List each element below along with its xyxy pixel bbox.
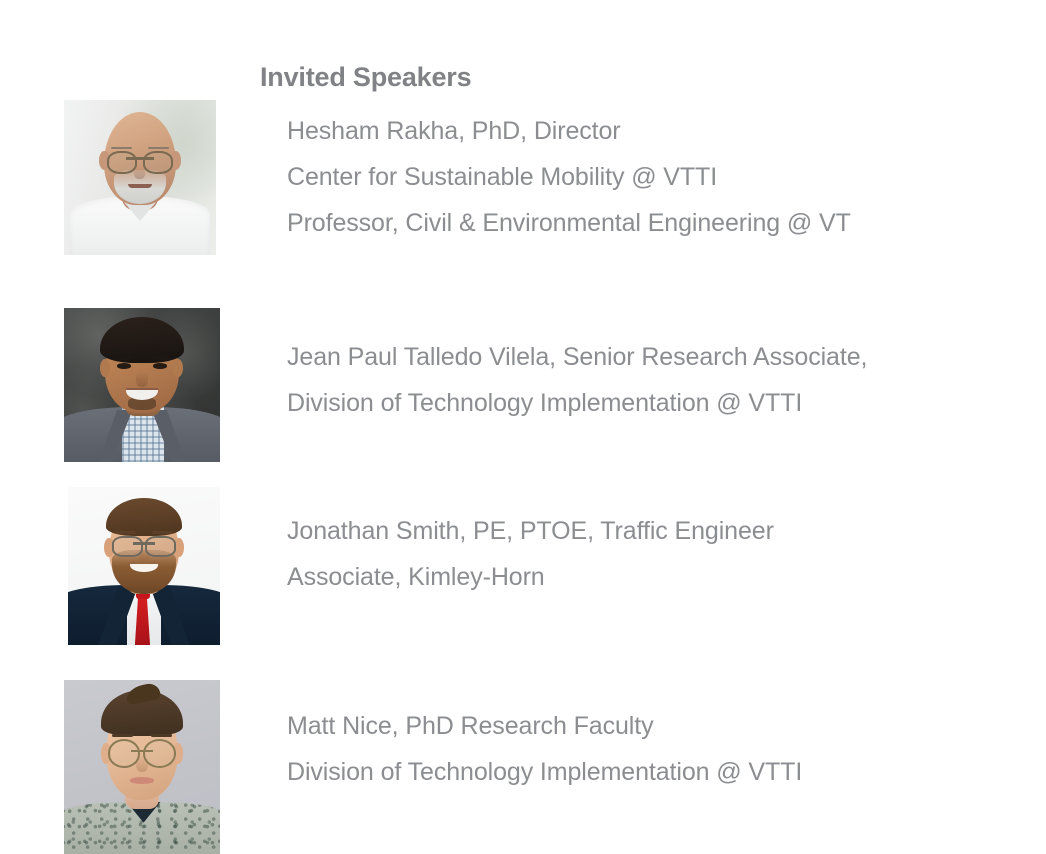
- photo-mouth: [128, 184, 152, 188]
- photo-ear-left: [100, 359, 110, 377]
- slide-canvas: Invited Speakers Hesham Rakha, P: [0, 0, 1046, 854]
- speaker-photo-jean-paul-talledo-vilela: [64, 308, 220, 462]
- glasses-bridge: [131, 750, 153, 753]
- photo-nose: [136, 371, 148, 386]
- speaker-photo-jonathan-smith: [68, 487, 220, 645]
- photo-brow-left: [112, 734, 132, 737]
- page-title: Invited Speakers: [260, 62, 471, 93]
- glasses-bridge: [133, 542, 154, 545]
- bio-line: Jean Paul Talledo Vilela, Senior Researc…: [287, 334, 867, 380]
- photo-brow-right: [151, 734, 171, 737]
- photo-brow-right: [148, 147, 169, 150]
- photo-eye-left: [117, 363, 131, 368]
- bio-line: Division of Technology Implementation @ …: [287, 380, 867, 426]
- photo-brow-left: [115, 531, 136, 534]
- speaker-bio-1: Hesham Rakha, PhD, Director Center for S…: [287, 108, 851, 246]
- bio-line: Jonathan Smith, PE, PTOE, Traffic Engine…: [287, 508, 774, 554]
- bio-line: Professor, Civil & Environmental Enginee…: [287, 200, 851, 246]
- bio-line: Matt Nice, PhD Research Faculty: [287, 703, 802, 749]
- photo-brow-right: [152, 531, 173, 534]
- bio-line: Center for Sustainable Mobility @ VTTI: [287, 154, 851, 200]
- glasses-bridge: [126, 157, 153, 160]
- photo-brow-left: [111, 147, 132, 150]
- bio-line: Hesham Rakha, PhD, Director: [287, 108, 851, 154]
- speaker-bio-4: Matt Nice, PhD Research Faculty Division…: [287, 703, 802, 795]
- glasses-icon: [107, 151, 174, 170]
- photo-eye-right: [153, 363, 167, 368]
- speaker-photo-matt-nice: [64, 680, 220, 854]
- photo-lips: [130, 777, 155, 783]
- speaker-photo-hesham-rakha: [64, 100, 216, 255]
- speaker-bio-2: Jean Paul Talledo Vilela, Senior Researc…: [287, 334, 867, 426]
- bio-line: Division of Technology Implementation @ …: [287, 749, 802, 795]
- speaker-bio-3: Jonathan Smith, PE, PTOE, Traffic Engine…: [287, 508, 774, 600]
- bio-line: Associate, Kimley-Horn: [287, 554, 774, 600]
